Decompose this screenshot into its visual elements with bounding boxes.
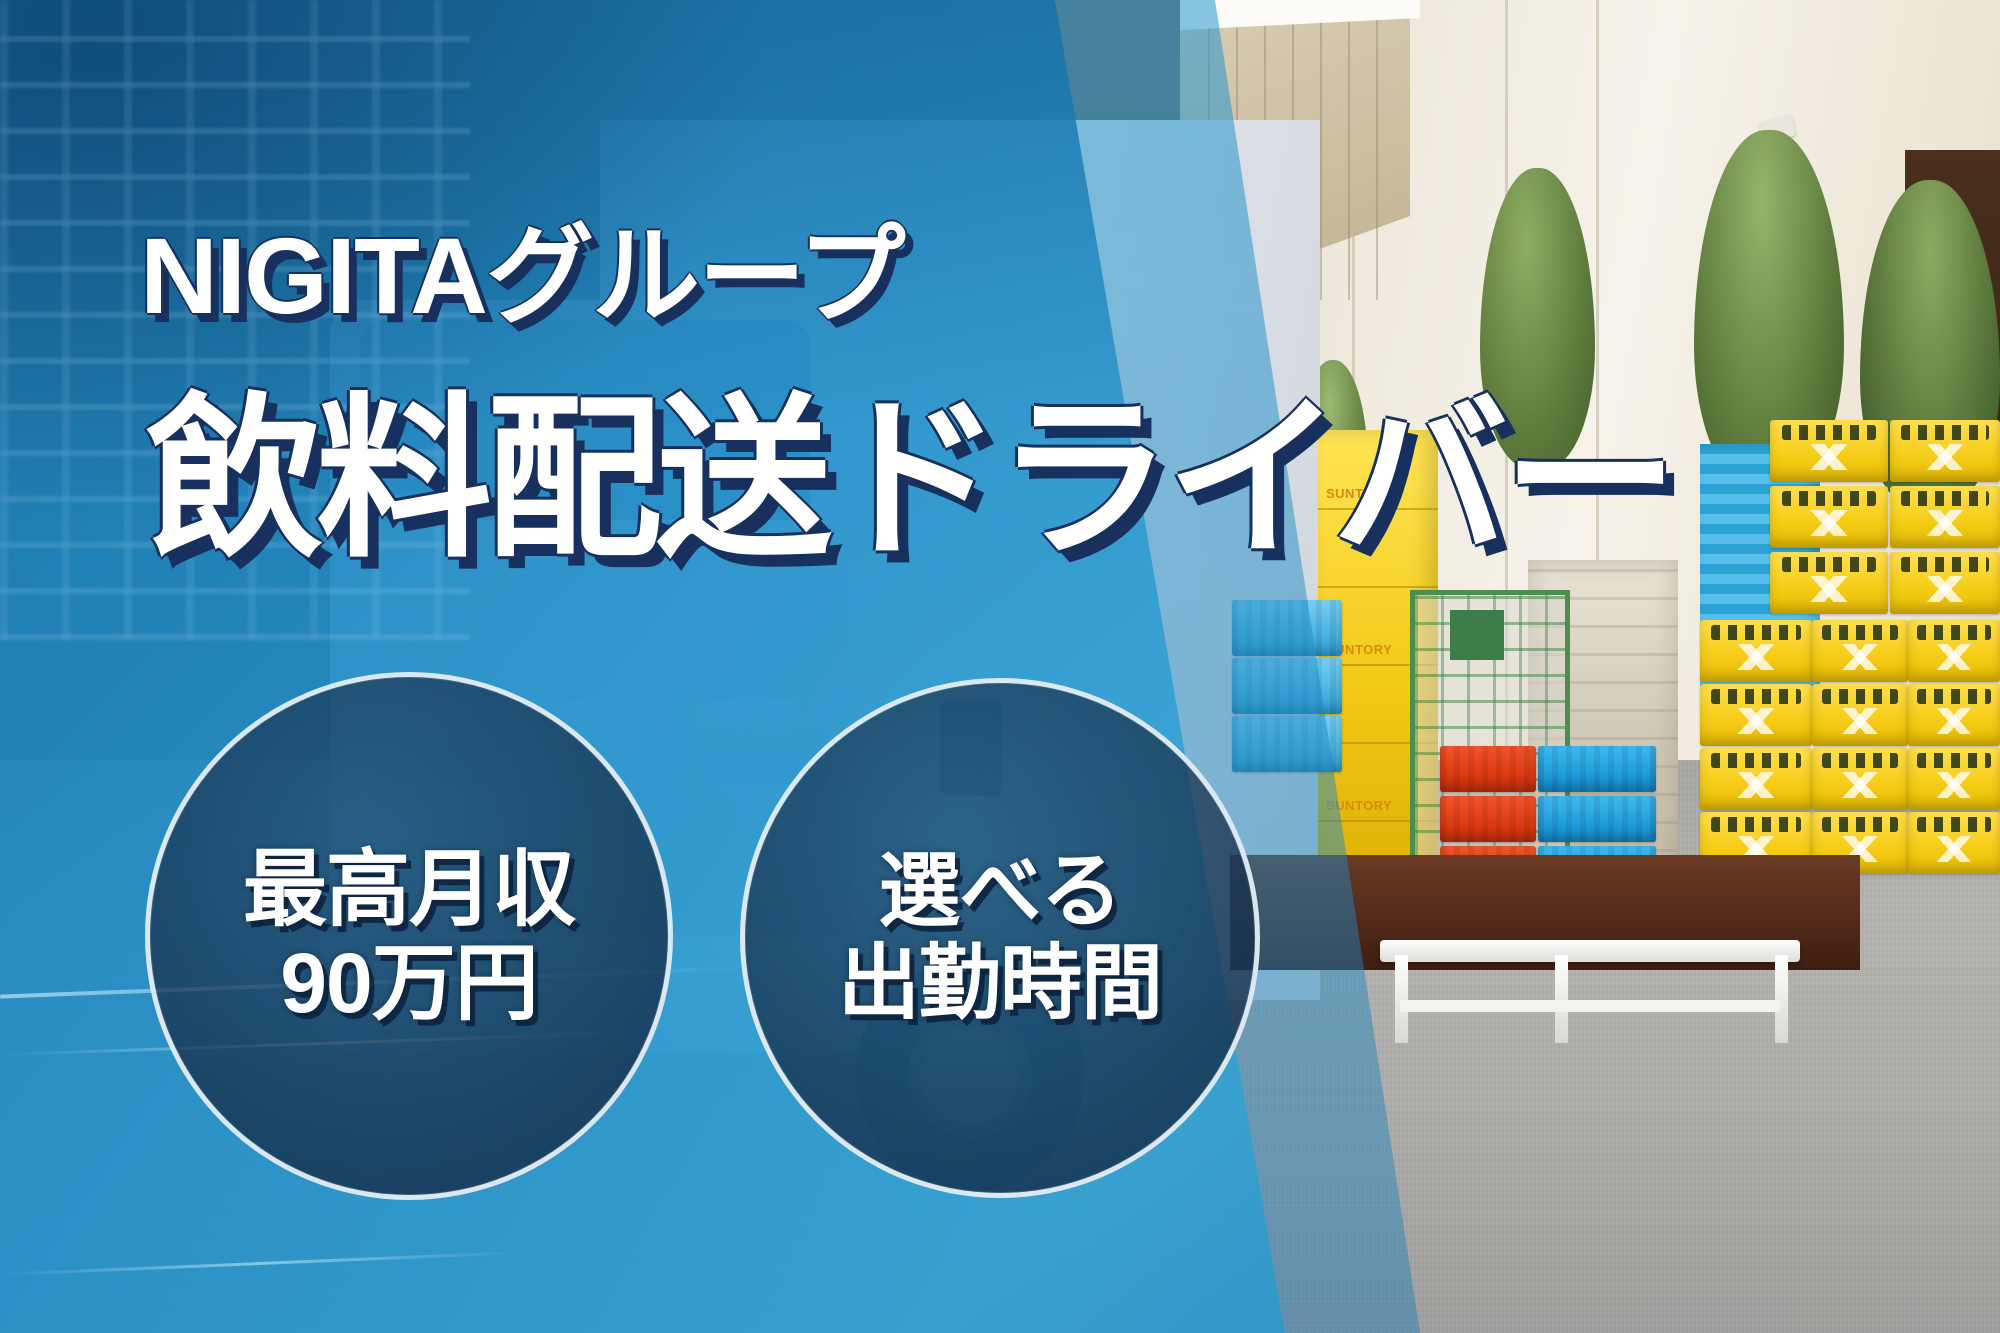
- badge-selectable-work-hours: 選べる 出勤時間: [740, 678, 1260, 1198]
- crate: [1812, 620, 1908, 682]
- badge-line-1: 最高月収: [243, 842, 575, 936]
- crate: [1812, 684, 1908, 746]
- crate: [1908, 748, 2000, 810]
- crate: [1908, 812, 2000, 874]
- banner-hero: SUNTORY SUNTORY SUNTORY: [0, 0, 2000, 1333]
- cage-placard: [1450, 610, 1504, 660]
- crate: [1890, 552, 2000, 614]
- badge-line-2: 90万円: [280, 936, 537, 1030]
- crate: [1700, 620, 1812, 682]
- crate: [1890, 420, 2000, 482]
- crate: [1770, 552, 1888, 614]
- badge-max-monthly-income: 最高月収 90万円: [145, 672, 673, 1200]
- crate: [1770, 486, 1888, 548]
- flatbed-crossbar: [1400, 1000, 1780, 1012]
- badge-line-1: 選べる: [878, 846, 1121, 938]
- crate: [1440, 796, 1536, 842]
- crate: [1700, 684, 1812, 746]
- crate: [1908, 684, 2000, 746]
- crate: [1770, 420, 1888, 482]
- badge-line-2: 出勤時間: [838, 938, 1162, 1030]
- crate: [1700, 748, 1812, 810]
- crate: [1538, 746, 1656, 792]
- crate: [1812, 748, 1908, 810]
- crate: [1890, 486, 2000, 548]
- flatbed-rail: [1380, 940, 1800, 962]
- crate: [1440, 746, 1536, 792]
- ghost-pallet-grid: [0, 0, 470, 640]
- crate: [1908, 620, 2000, 682]
- crate: [1538, 796, 1656, 842]
